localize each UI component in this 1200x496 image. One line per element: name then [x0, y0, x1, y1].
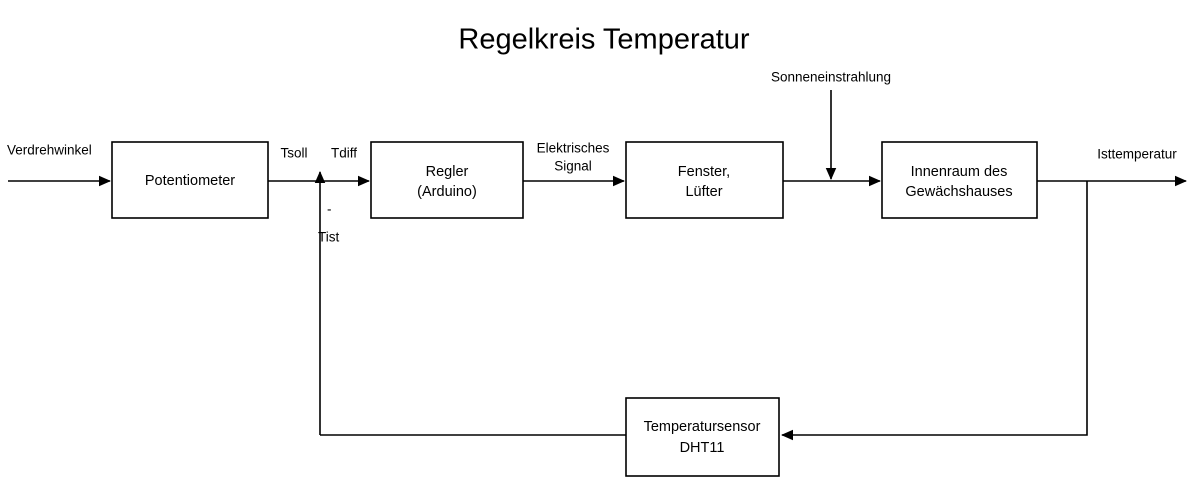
block-aktor-rect [626, 142, 783, 218]
block-sensor-rect [626, 398, 779, 476]
connector-output-tap-to-sensor [782, 181, 1087, 435]
block-potentiometer-label: Potentiometer [145, 173, 235, 189]
block-regler[interactable]: Regler (Arduino) [371, 142, 523, 218]
block-aktor[interactable]: Fenster, Lüfter [626, 142, 783, 218]
block-sensor-label-line1: Temperatursensor [644, 419, 761, 435]
block-regler-label-line1: Regler [426, 164, 469, 180]
signal-label-output: Isttemperatur [1097, 147, 1177, 162]
signal-label-tist: Tist [318, 230, 339, 245]
signal-label-tdiff: Tdiff [331, 146, 357, 161]
block-regler-rect [371, 142, 523, 218]
signal-label-electrical-line2: Signal [554, 159, 592, 174]
block-aktor-label-line2: Lüfter [685, 184, 722, 200]
signal-label-electrical-line1: Elektrisches [537, 141, 610, 156]
block-aktor-label-line1: Fenster, [678, 164, 730, 180]
block-strecke-label-line2: Gewächshauses [905, 184, 1012, 200]
block-potentiometer[interactable]: Potentiometer [112, 142, 268, 218]
block-strecke-label-line1: Innenraum des [911, 164, 1008, 180]
diagram-title: Regelkreis Temperatur [458, 24, 750, 56]
signal-label-input: Verdrehwinkel [7, 143, 92, 158]
block-regler-label-line2: (Arduino) [417, 184, 477, 200]
signal-label-disturbance: Sonneneinstrahlung [771, 70, 891, 85]
block-strecke[interactable]: Innenraum des Gewächshauses [882, 142, 1037, 218]
signal-label-tsoll: Tsoll [280, 146, 307, 161]
control-loop-diagram: Regelkreis Temperatur Potentiometer Regl… [0, 0, 1200, 496]
diagram-canvas: Regelkreis Temperatur Potentiometer Regl… [0, 0, 1200, 496]
signal-label-minus-sign: - [327, 202, 332, 217]
block-sensor[interactable]: Temperatursensor DHT11 [626, 398, 779, 476]
block-strecke-rect [882, 142, 1037, 218]
block-sensor-label-line2: DHT11 [680, 440, 725, 456]
